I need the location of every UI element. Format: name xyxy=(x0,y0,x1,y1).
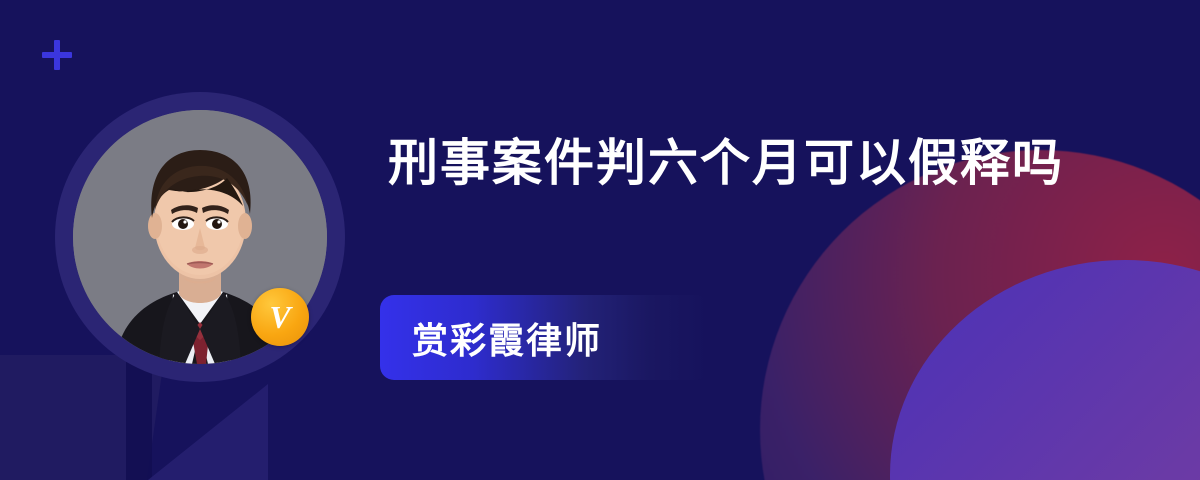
page-title: 刑事案件判六个月可以假释吗 xyxy=(388,124,1088,202)
decor-wedge-bottom-left xyxy=(148,384,268,480)
avatar: V xyxy=(55,92,345,382)
verified-badge-glyph: V xyxy=(269,301,290,333)
lawyer-name-button[interactable]: 赏彩霞律师 xyxy=(380,295,710,380)
verified-badge-icon: V xyxy=(251,288,309,346)
lawyer-name-label: 赏彩霞律师 xyxy=(412,312,602,364)
banner-canvas: V 刑事案件判六个月可以假释吗 赏彩霞律师 xyxy=(0,0,1200,480)
plus-icon xyxy=(42,40,72,70)
